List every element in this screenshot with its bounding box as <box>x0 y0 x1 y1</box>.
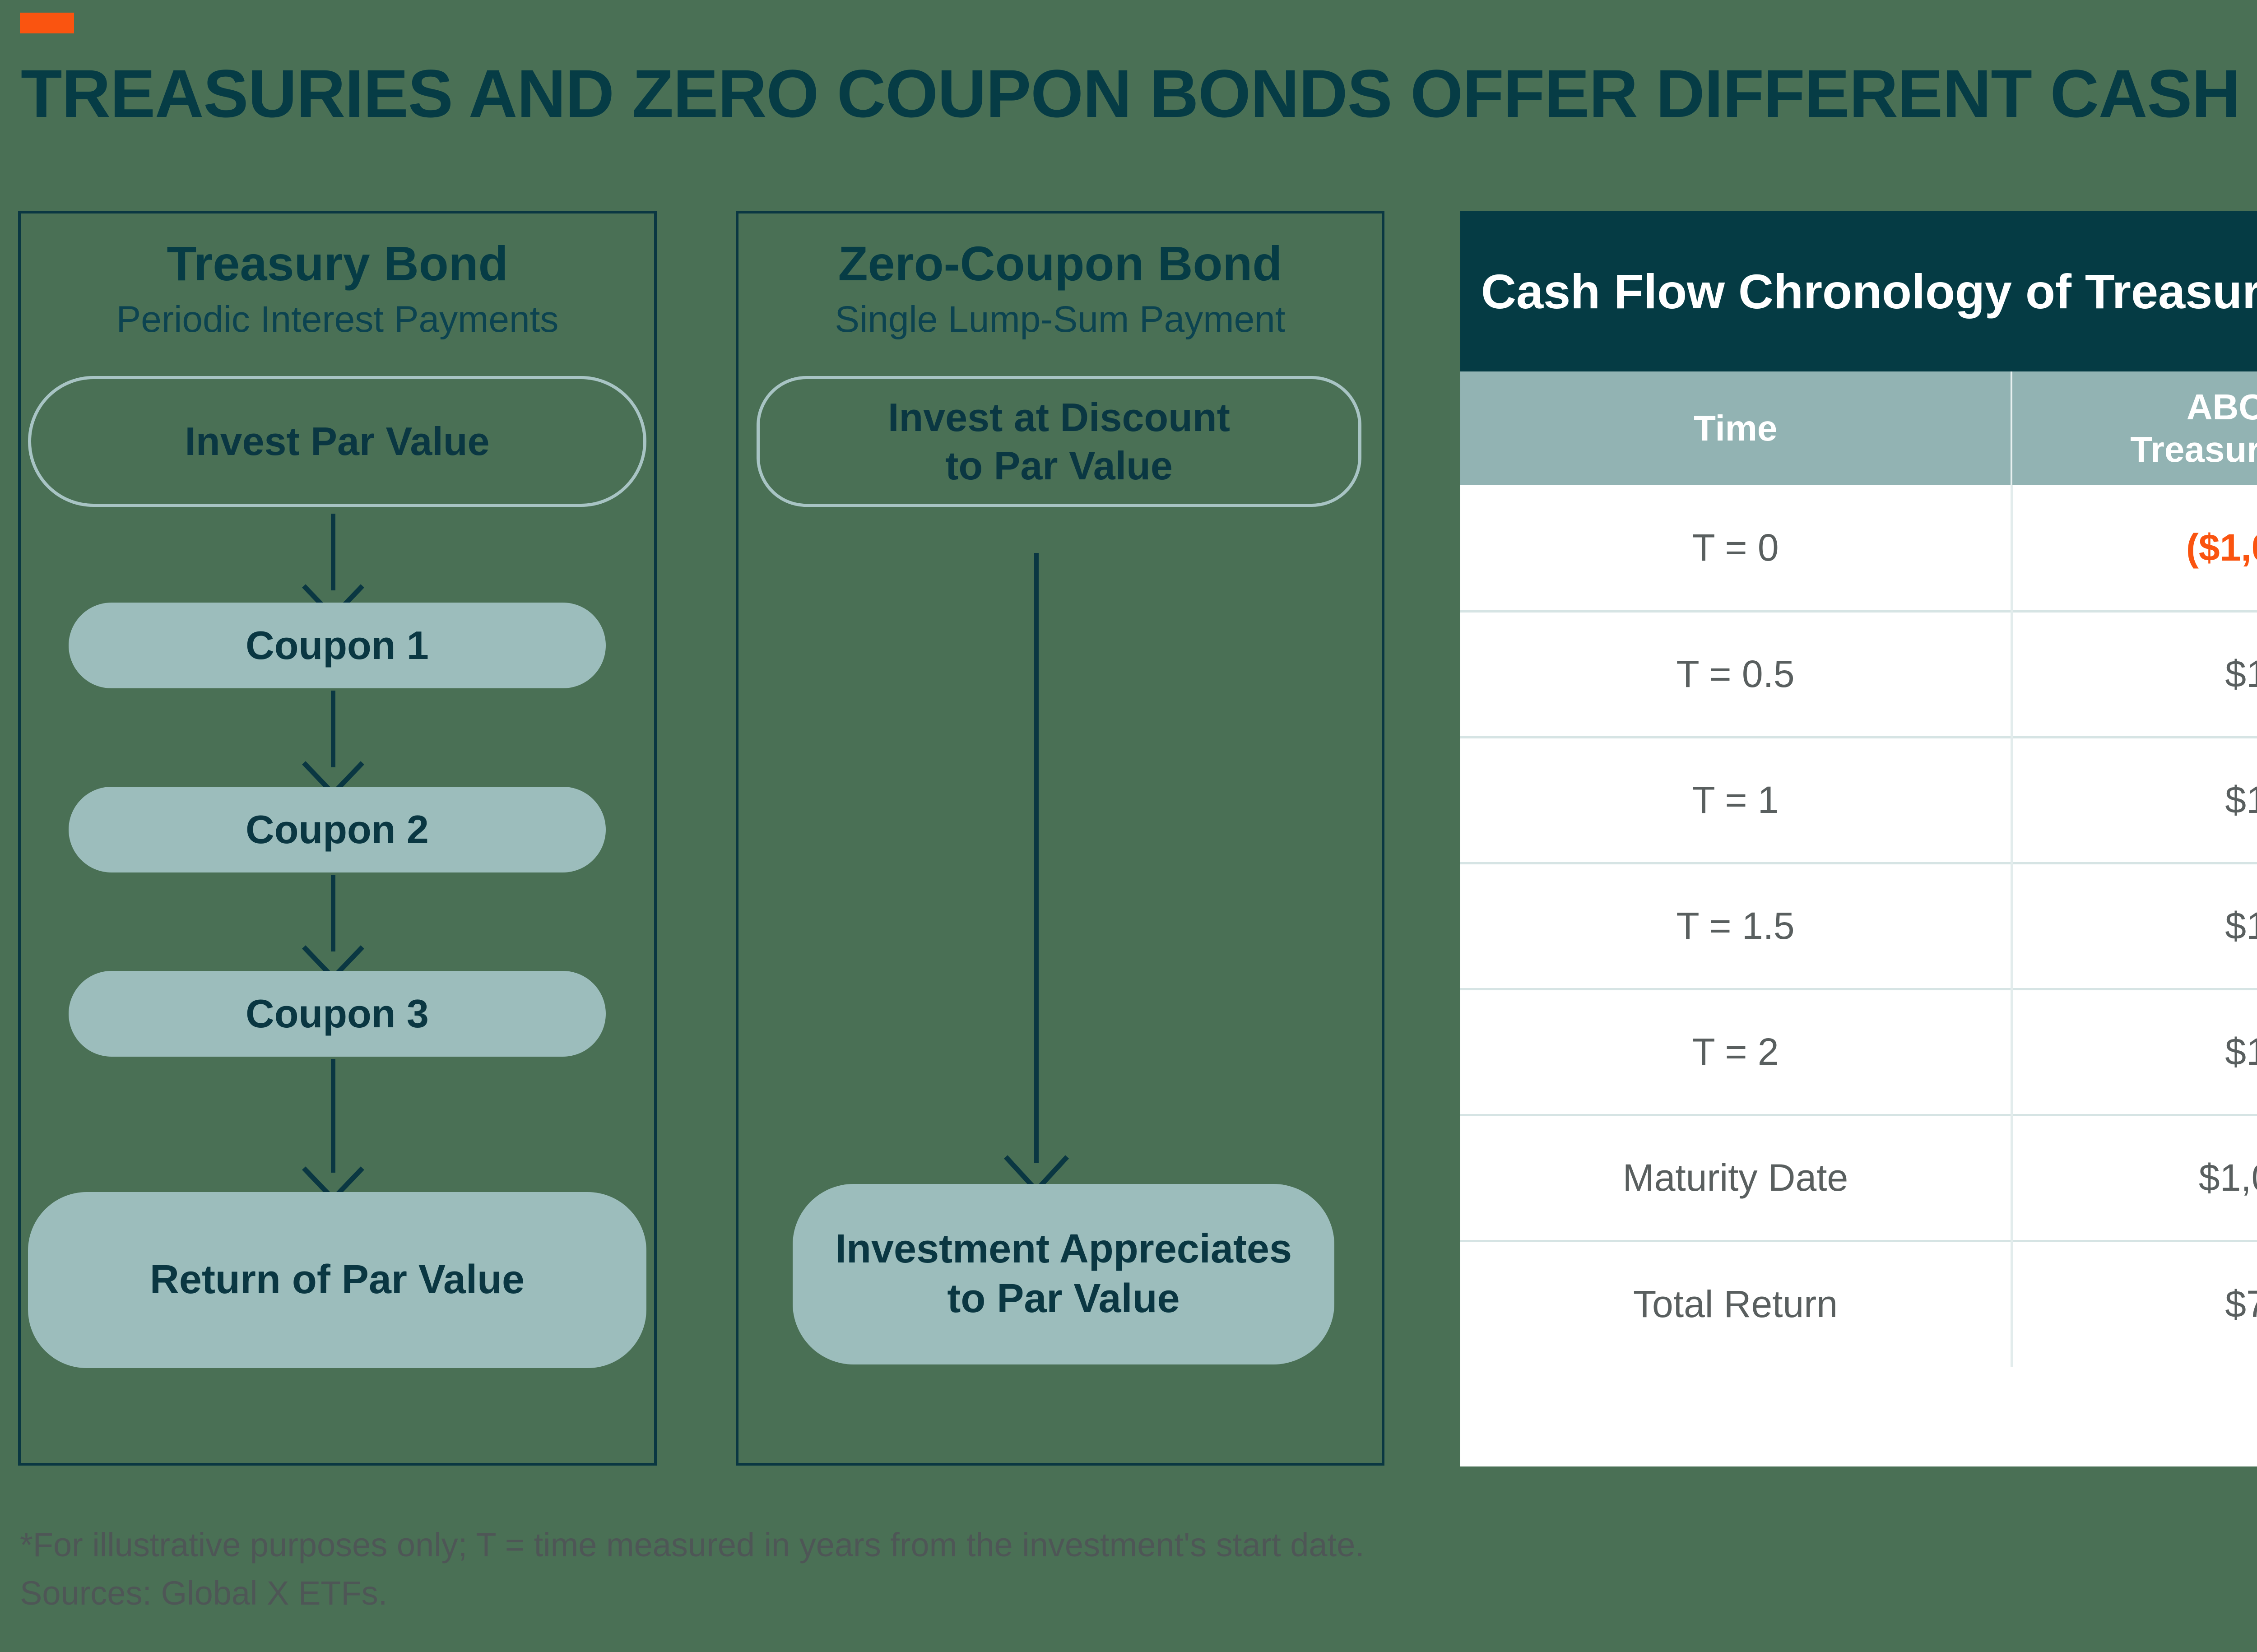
panel-treasury-title: Treasury Bond <box>21 235 654 292</box>
node-label: Coupon 2 <box>246 805 429 854</box>
table-grid: Time ABC 3% Treasury Bond Similar Zero C… <box>1460 371 2257 1367</box>
panel-treasury-bond: Treasury Bond Periodic Interest Payments… <box>18 211 657 1466</box>
table-row: T = 0.5 $15 - <box>1460 611 2257 737</box>
table-row: T = 1.5 $15 - <box>1460 863 2257 989</box>
node-label: Coupon 3 <box>246 989 429 1038</box>
table-row: Total Return $75 $75 <box>1460 1241 2257 1367</box>
table-row: T = 1 $15 - <box>1460 737 2257 863</box>
footnotes: *For illustrative purposes only; T = tim… <box>20 1521 2257 1617</box>
node-label-line-1: Invest at Discount <box>888 393 1230 441</box>
table-body: T = 0 ($1,000) ($925) T = 0.5 $15 - T = … <box>1460 485 2257 1367</box>
node-invest-at-discount[interactable]: Invest at Discount to Par Value <box>757 376 1361 507</box>
node-label-line-1: Investment Appreciates <box>835 1225 1292 1274</box>
arrow-coupon2-to-coupon3 <box>311 875 356 973</box>
orange-accent-bar <box>20 13 74 33</box>
cell-treasury: ($1,000) <box>2011 485 2257 611</box>
cell-time: T = 1.5 <box>1460 863 2011 989</box>
node-coupon-1[interactable]: Coupon 1 <box>69 603 606 688</box>
panel-treasury-subtitle: Periodic Interest Payments <box>21 298 654 341</box>
cell-treasury: $15 <box>2011 863 2257 989</box>
cell-time: T = 0.5 <box>1460 611 2011 737</box>
cell-time: T = 0 <box>1460 485 2011 611</box>
node-label: Return of Par Value <box>150 1255 525 1305</box>
panel-zero-title: Zero-Coupon Bond <box>738 235 1382 292</box>
table-row: T = 0 ($1,000) ($925) <box>1460 485 2257 611</box>
table-header-row: Time ABC 3% Treasury Bond Similar Zero C… <box>1460 371 2257 485</box>
column-header-treasury-bond: ABC 3% Treasury Bond <box>2011 371 2257 485</box>
cell-treasury: $1,015 <box>2011 1115 2257 1241</box>
column-header-line-1: ABC 3% <box>2012 386 2257 428</box>
footnote-sources: Sources: Global X ETFs. <box>20 1569 2257 1618</box>
node-label-line-2: to Par Value <box>945 441 1173 490</box>
cell-treasury: $15 <box>2011 611 2257 737</box>
table-row: Maturity Date $1,015 $1,000 <box>1460 1115 2257 1241</box>
table-title: Cash Flow Chronology of Treasury Bonds v… <box>1460 211 2257 371</box>
arrow-invest-to-coupon1 <box>311 514 356 612</box>
column-header-time: Time <box>1460 371 2011 485</box>
table-row: T = 2 $15 - <box>1460 989 2257 1115</box>
node-return-of-par-value[interactable]: Return of Par Value <box>28 1192 646 1368</box>
arrow-coupon3-to-return <box>311 1059 356 1194</box>
cash-flow-table: Cash Flow Chronology of Treasury Bonds v… <box>1460 211 2257 1466</box>
column-header-line-1: Time <box>1460 407 2011 450</box>
footnote-disclaimer: *For illustrative purposes only; T = tim… <box>20 1521 2257 1569</box>
panel-zero-coupon-bond: Zero-Coupon Bond Single Lump-Sum Payment… <box>736 211 1384 1466</box>
page-title: TREASURIES AND ZERO COUPON BONDS OFFER D… <box>21 55 2257 132</box>
cell-treasury: $15 <box>2011 989 2257 1115</box>
cell-treasury: $75 <box>2011 1241 2257 1367</box>
arrow-coupon1-to-coupon2 <box>311 691 356 789</box>
node-invest-par-value[interactable]: Invest Par Value <box>28 376 646 507</box>
node-label: Invest Par Value <box>185 417 489 465</box>
node-coupon-2[interactable]: Coupon 2 <box>69 787 606 872</box>
node-label: Coupon 1 <box>246 621 429 669</box>
table-head: Time ABC 3% Treasury Bond Similar Zero C… <box>1460 371 2257 485</box>
cell-time: T = 2 <box>1460 989 2011 1115</box>
cell-time: T = 1 <box>1460 737 2011 863</box>
node-coupon-3[interactable]: Coupon 3 <box>69 971 606 1057</box>
panel-zero-subtitle: Single Lump-Sum Payment <box>738 298 1382 341</box>
infographic-canvas: TREASURIES AND ZERO COUPON BONDS OFFER D… <box>0 0 2257 1652</box>
node-label-line-2: to Par Value <box>947 1274 1180 1324</box>
cell-treasury: $15 <box>2011 737 2257 863</box>
node-investment-appreciates[interactable]: Investment Appreciates to Par Value <box>793 1184 1334 1364</box>
arrow-invest-to-appreciation <box>1014 553 1059 1185</box>
cell-time: Total Return <box>1460 1241 2011 1367</box>
cell-time: Maturity Date <box>1460 1115 2011 1241</box>
column-header-line-2: Treasury Bond <box>2012 428 2257 471</box>
